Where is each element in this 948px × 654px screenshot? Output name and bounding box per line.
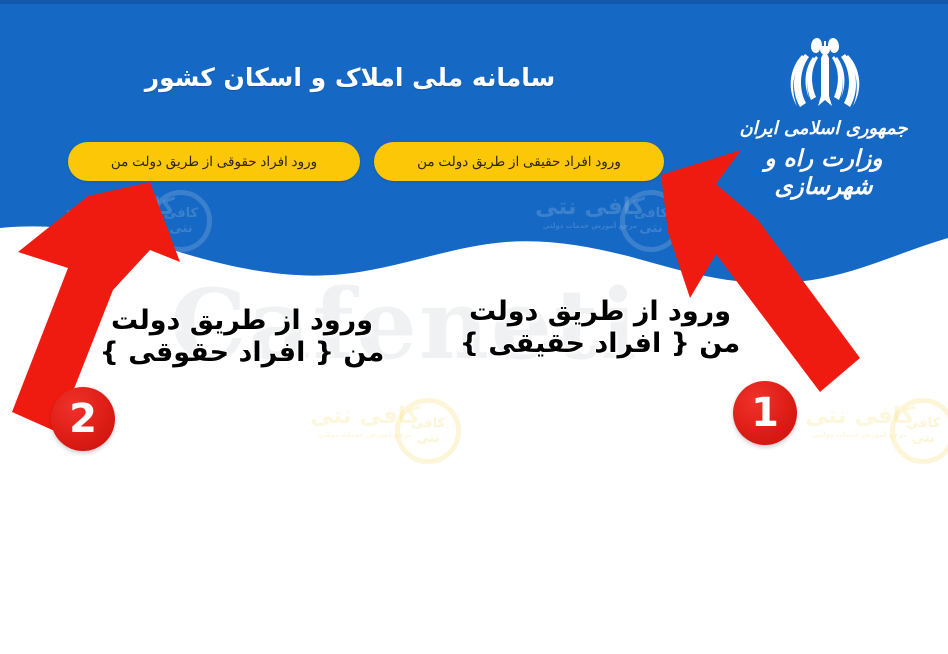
- watermark-brand-sub: مرجع آموزش خدمات دولتی: [280, 431, 450, 439]
- watermark-brand-lower-left: کافی نتی مرجع آموزش خدمات دولتی: [280, 405, 450, 439]
- iran-emblem-icon: [776, 36, 872, 114]
- callout-line-1: ورود از طریق دولت: [92, 305, 392, 337]
- watermark-brand-sub: مرجع آموزش خدمات دولتی: [775, 431, 945, 439]
- callout-legal-entity: ورود از طریق دولت من { افراد حقوقی }: [92, 305, 392, 369]
- watermark-brand-text: کافی نتی: [775, 405, 945, 428]
- legal-entity-login-button[interactable]: ورود افراد حقوقی از طریق دولت من: [68, 142, 360, 181]
- header-top-strip: [0, 0, 948, 4]
- watermark-ring-icon: کافی نتی: [890, 398, 948, 464]
- page-title: سامانه ملی املاک و اسکان کشور: [0, 63, 700, 92]
- callout-line-2: من { افراد حقیقی }: [455, 328, 745, 360]
- watermark-ring-icon: کافی نتی: [395, 398, 461, 464]
- step-badge-2: 2: [51, 387, 115, 451]
- ministry-logo-block: جمهوری اسلامی ایران وزارت راه و شهرسازی: [721, 36, 926, 202]
- callout-real-person: ورود از طریق دولت من { افراد حقیقی }: [455, 296, 745, 360]
- watermark-brand-text: کافی نتی: [280, 405, 450, 428]
- step-badge-1: 1: [733, 381, 797, 445]
- logo-line-republic: جمهوری اسلامی ایران: [721, 118, 926, 141]
- callout-line-2: من { افراد حقوقی }: [92, 337, 392, 369]
- watermark-brand-lower-right: کافی نتی مرجع آموزش خدمات دولتی: [775, 405, 945, 439]
- real-person-login-button[interactable]: ورود افراد حقیقی از طریق دولت من: [374, 142, 664, 181]
- logo-line-ministry: وزارت راه و شهرسازی: [721, 145, 926, 203]
- callout-line-1: ورود از طریق دولت: [455, 296, 745, 328]
- screenshot-root: کافی نتی مرجع آموزش خدمات دولتی کافی نتی…: [0, 0, 948, 654]
